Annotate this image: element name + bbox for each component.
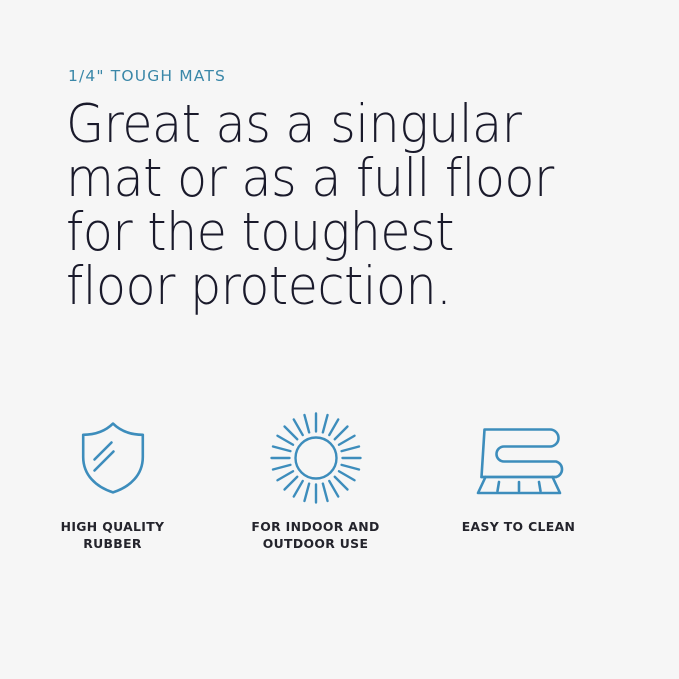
shield-icon (79, 408, 147, 508)
headline-line-4: floor protection. (66, 260, 568, 314)
eyebrow-label: 1/4" TOUGH MATS (68, 67, 226, 85)
scrub-brush-icon-glyph (472, 420, 566, 496)
feature-list: HIGH QUALITY RUBBER FOR INDOOR AND OUTDO… (0, 408, 679, 552)
scrub-brush-icon (472, 408, 566, 508)
feature-item-indoor-outdoor: FOR INDOOR AND OUTDOOR USE (214, 408, 417, 552)
promo-banner: 1/4" TOUGH MATS Great as a singular mat … (0, 0, 679, 679)
feature-item-easy-to-clean: EASY TO CLEAN (417, 408, 620, 552)
feature-label: HIGH QUALITY RUBBER (61, 518, 165, 552)
feature-label: FOR INDOOR AND OUTDOOR USE (251, 518, 379, 552)
sun-icon-glyph (268, 410, 364, 506)
sun-icon (268, 408, 364, 508)
feature-item-high-quality-rubber: HIGH QUALITY RUBBER (11, 408, 214, 552)
shield-icon-glyph (79, 421, 147, 495)
headline-line-2: mat or as a full floor (66, 152, 568, 206)
feature-label: EASY TO CLEAN (462, 518, 576, 535)
headline-line-3: for the toughest (66, 206, 568, 260)
headline-line-1: Great as a singular (66, 98, 568, 152)
page-title: Great as a singular mat or as a full flo… (66, 98, 606, 314)
